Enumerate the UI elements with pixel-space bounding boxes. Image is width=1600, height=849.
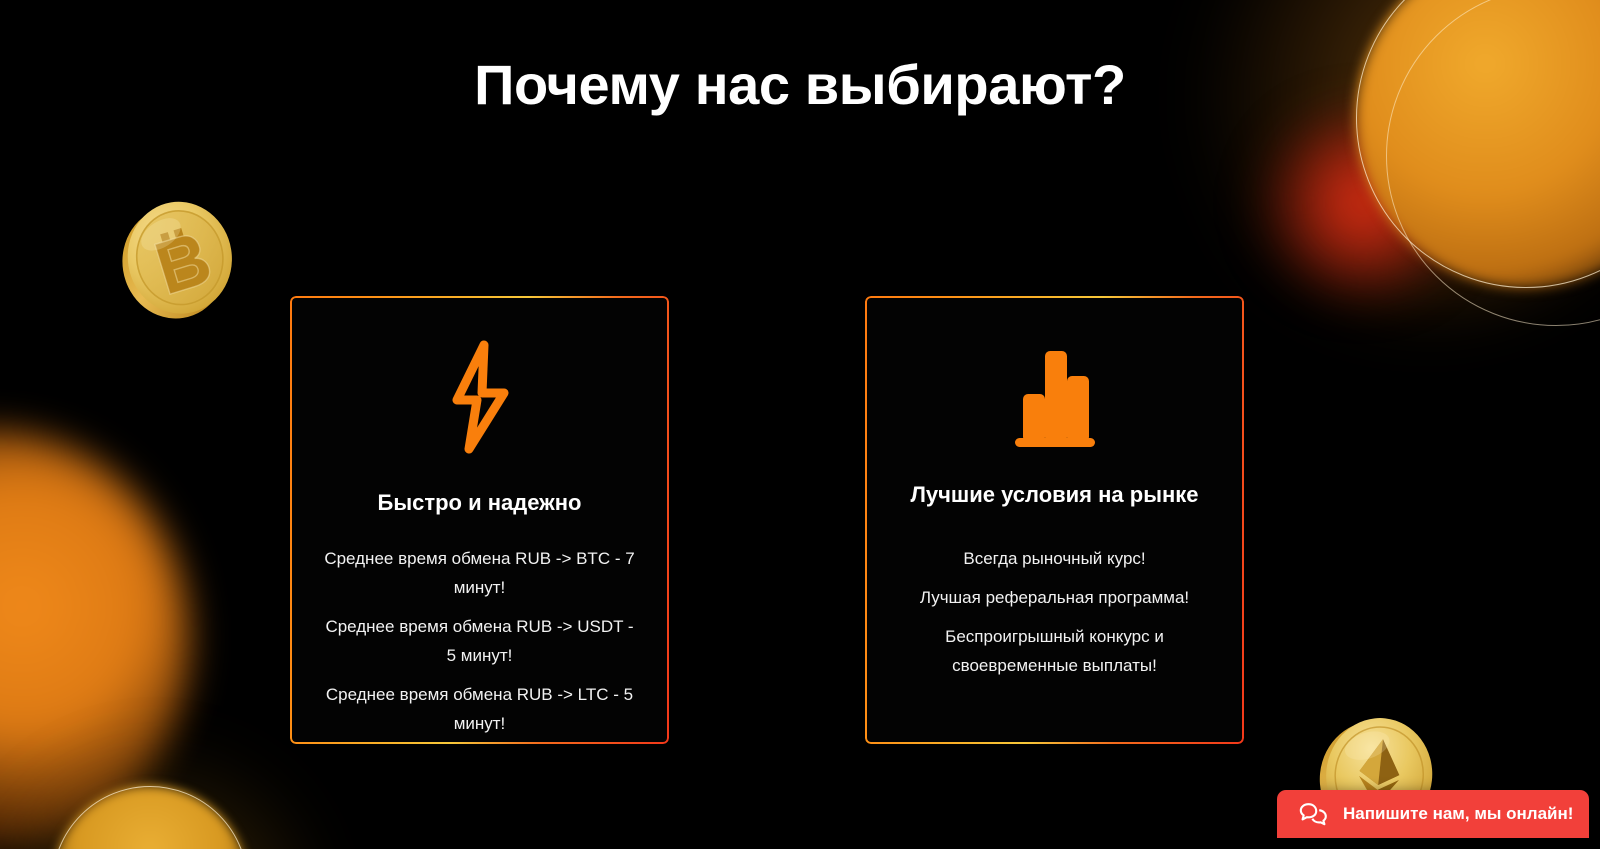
orange-glow-left-edge <box>0 430 190 849</box>
feature-card-line: Беспроигрышный конкурс и своевременные в… <box>891 622 1218 680</box>
circle-outline-bottom-left <box>52 786 248 849</box>
lightning-bolt-icon <box>316 338 643 456</box>
feature-card-title: Быстро и надежно <box>316 486 643 520</box>
chat-widget-label: Напишите нам, мы онлайн! <box>1343 804 1573 824</box>
feature-card-title: Лучшие условия на рынке <box>891 478 1218 512</box>
feature-cards: Быстро и надежно Среднее время обмена RU… <box>290 296 1244 744</box>
feature-card-line: Среднее время обмена RUB -> USDT - 5 мин… <box>316 612 643 670</box>
circle-outline-top-right-1 <box>1356 0 1600 288</box>
bitcoin-coin-icon <box>108 187 248 331</box>
chat-widget-button[interactable]: Напишите нам, мы онлайн! <box>1277 790 1589 838</box>
bar-chart-icon <box>891 338 1218 456</box>
feature-card-lines: Среднее время обмена RUB -> BTC - 7 мину… <box>316 544 643 738</box>
amber-sphere-top-right <box>1356 0 1600 288</box>
circle-outline-top-right-2 <box>1386 0 1600 326</box>
feature-card-best-conditions[interactable]: Лучшие условия на рынке Всегда рыночный … <box>865 296 1244 744</box>
feature-card-line: Среднее время обмена RUB -> LTC - 5 мину… <box>316 680 643 738</box>
feature-card-fast-reliable[interactable]: Быстро и надежно Среднее время обмена RU… <box>290 296 669 744</box>
feature-card-line: Всегда рыночный курс! <box>891 544 1218 573</box>
chat-bubbles-icon <box>1299 802 1329 826</box>
page-title: Почему нас выбирают? <box>0 54 1600 117</box>
feature-card-lines: Всегда рыночный курс! Лучшая реферальная… <box>891 544 1218 680</box>
gold-sphere-bottom-left <box>52 786 248 849</box>
amber-haze-glow <box>1180 0 1600 320</box>
feature-card-line: Лучшая реферальная программа! <box>891 583 1218 612</box>
feature-card-line: Среднее время обмена RUB -> BTC - 7 мину… <box>316 544 643 602</box>
red-glow-top-right <box>1258 108 1468 298</box>
page-root: Почему нас выбирают? Быстро и надежно Ср… <box>0 0 1600 849</box>
gold-haze-bottom-left <box>0 740 320 849</box>
